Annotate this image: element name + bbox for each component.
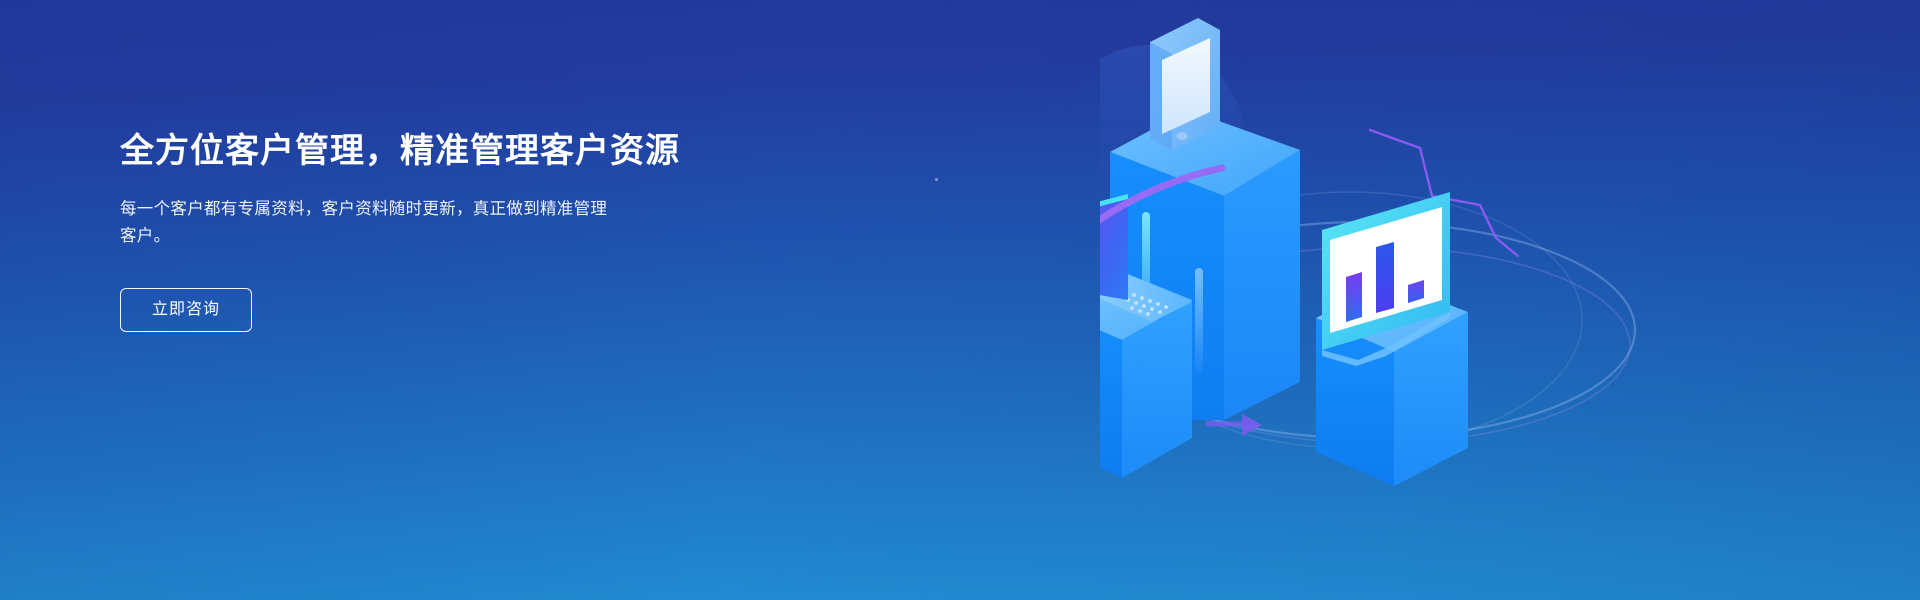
consult-now-button[interactable]: 立即咨询 xyxy=(120,288,252,332)
hero-copy: 全方位客户管理，精准管理客户资源 每一个客户都有专属资料，客户资料随时更新，真正… xyxy=(120,128,740,332)
hero-banner: 全方位客户管理，精准管理客户资源 每一个客户都有专属资料，客户资料随时更新，真正… xyxy=(0,0,1920,600)
page-title: 全方位客户管理，精准管理客户资源 xyxy=(120,128,740,174)
sparkle-dot-icon xyxy=(935,178,938,181)
illustration xyxy=(1100,0,1920,600)
hero-subtitle: 每一个客户都有专属资料，客户资料随时更新，真正做到精准管理客户。 xyxy=(120,196,610,250)
tablet-device xyxy=(1150,10,1220,194)
cta-wrapper: 立即咨询 xyxy=(120,288,740,332)
